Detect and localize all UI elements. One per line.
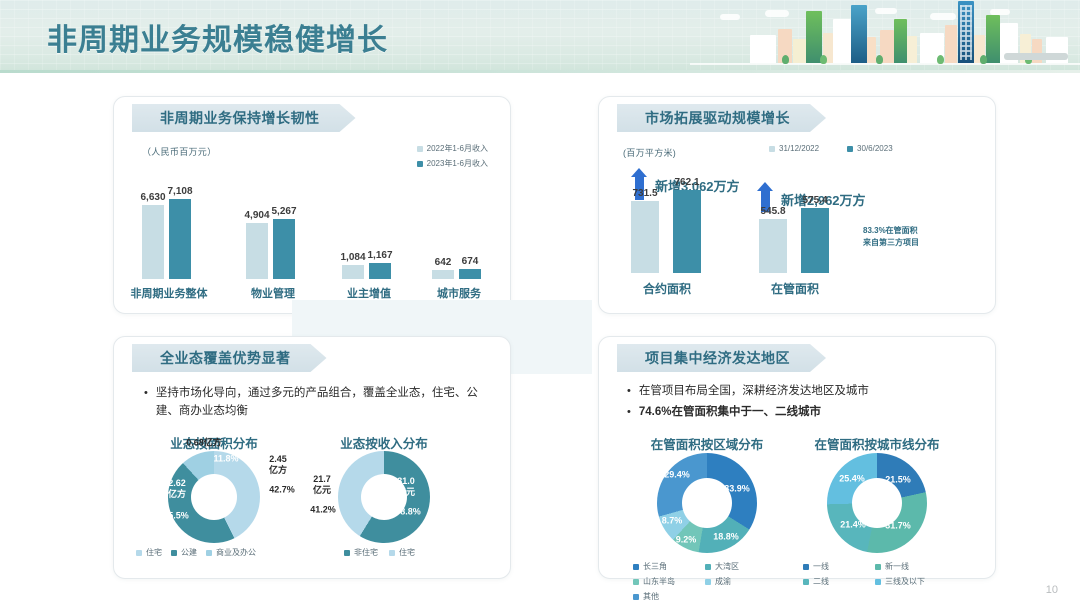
- bar-2023: [169, 199, 191, 279]
- legend-swatch-icon: [875, 564, 881, 570]
- list-item-text: 74.6%在管面积集中于一、二线城市: [639, 404, 821, 422]
- legend-label: 公建: [181, 547, 197, 558]
- bar-chart-revenue: 6,630 7,108 非周期业务整体 4,904 5,267 物业管理 1,0…: [114, 97, 512, 315]
- header-divider: [0, 70, 1080, 73]
- donut-managed-area-by-citytier: [827, 453, 927, 553]
- legend-item: 新一线: [875, 561, 965, 572]
- legend-item: 山东半岛: [633, 576, 705, 587]
- bar-category-label: 合约面积: [643, 280, 691, 297]
- train-icon: [1004, 53, 1068, 60]
- legend-by-city-tier: 一线 新一线 二线 三线及以下: [803, 561, 968, 587]
- panel-full-format-coverage: 全业态覆盖优势显著 • 坚持市场化导向，通过多元的产品组合，覆盖全业态，住宅、公…: [113, 336, 511, 579]
- bullet-list: • 坚持市场化导向，通过多元的产品组合，覆盖全业态，住宅、公建、商办业态均衡: [144, 385, 494, 424]
- donut-percent-label: 31.7%: [885, 521, 911, 532]
- legend-swatch-icon: [136, 550, 142, 556]
- legend-swatch-icon: [389, 550, 395, 556]
- legend-item: 其他: [633, 591, 705, 602]
- legend-swatch-icon: [803, 579, 809, 585]
- bullet-list: • 在管项目布局全国，深耕经济发达地区及城市 • 74.6%在管面积集中于一、二…: [627, 383, 982, 425]
- legend-label: 一线: [813, 561, 829, 572]
- bar-value-label: 762.1: [674, 177, 699, 188]
- donut-value-label: 31.0 亿元: [397, 476, 415, 498]
- donut-percent-label: 42.7%: [269, 485, 295, 496]
- legend-label: 二线: [813, 576, 829, 587]
- legend-item: 一线: [803, 561, 875, 572]
- bar-value-label: 7,108: [167, 186, 192, 197]
- bar-2023-managed: [801, 208, 829, 273]
- bar-value-label: 5,267: [271, 206, 296, 217]
- legend-item: 公建: [171, 547, 197, 558]
- panel-title-market-expansion: 市场拓展驱动规模增长: [617, 104, 826, 132]
- bar-category-label: 业主增值: [347, 285, 391, 301]
- donut-percent-label: 18.8%: [713, 532, 739, 543]
- bar-2022: [246, 223, 268, 279]
- bar-value-label: 642: [435, 257, 452, 268]
- list-item: • 坚持市场化导向，通过多元的产品组合，覆盖全业态，住宅、公建、商办业态均衡: [144, 385, 494, 421]
- bar-value-label: 674: [462, 256, 479, 267]
- legend-label: 三线及以下: [885, 576, 925, 587]
- third-party-note-line2: 来自第三方项目: [863, 237, 919, 249]
- chart-title-by-city-tier: 在管面积按城市线分布: [814, 434, 939, 453]
- donut-value-label: 21.7 亿元: [313, 474, 331, 496]
- bar-value-label: 575.4: [802, 195, 827, 206]
- axis-unit-label: (百万平方米): [623, 146, 676, 159]
- legend-swatch-icon: [344, 550, 350, 556]
- legend-area: 31/12/2022 30/6/2023: [769, 144, 893, 153]
- legend-label: 非住宅: [354, 547, 378, 558]
- legend-item: 三线及以下: [875, 576, 965, 587]
- donut-value-label: 0.68亿方: [186, 438, 222, 449]
- bar-value-label: 1,167: [367, 250, 392, 261]
- bar-2023-contract: [673, 190, 701, 273]
- donut-percent-label: 41.2%: [310, 505, 336, 516]
- third-party-note-line1: 83.3%在管面积: [863, 225, 919, 237]
- legend-swatch-icon: [875, 579, 881, 585]
- legend-item: 住宅: [389, 547, 415, 558]
- bar-category-label: 城市服务: [437, 285, 481, 301]
- list-item: • 在管项目布局全国，深耕经济发达地区及城市: [627, 383, 982, 401]
- legend-swatch-icon: [705, 579, 711, 585]
- legend-label: 31/12/2022: [779, 144, 819, 153]
- legend-label: 山东半岛: [643, 576, 675, 587]
- panel-market-expansion: 市场拓展驱动规模增长 (百万平方米) 31/12/2022 30/6/2023 …: [598, 96, 996, 314]
- donut-percent-label: 45.5%: [163, 511, 189, 522]
- legend-swatch-icon: [633, 579, 639, 585]
- donut-percent-label: 25.4%: [839, 474, 865, 485]
- donut-percent-label: 8.7%: [662, 516, 683, 527]
- panel-title-full-format-coverage: 全业态覆盖优势显著: [132, 344, 327, 372]
- legend-item: 非住宅: [344, 547, 378, 558]
- legend-swatch-icon: [206, 550, 212, 556]
- bar-2023: [273, 219, 295, 279]
- legend-label: 商业及办公: [216, 547, 256, 558]
- panel-revenue-resilience: 非周期业务保持增长韧性 （人民币百万元） 2022年1-6月收入 2023年1-…: [113, 96, 511, 314]
- legend-swatch-icon: [633, 564, 639, 570]
- bar-2023: [459, 269, 481, 279]
- page-title: 非周期业务规模稳健增长: [47, 15, 388, 59]
- legend-item: 二线: [803, 576, 875, 587]
- slide: 非周期业务规模稳健增长 非周期业务保持增长韧性 （人民币百万元） 2022年1-…: [0, 0, 1080, 608]
- bar-2022: [432, 270, 454, 279]
- bar-2023: [369, 263, 391, 279]
- legend-swatch-icon: [171, 550, 177, 556]
- legend-label: 住宅: [399, 547, 415, 558]
- bar-category-label: 在管面积: [771, 280, 819, 297]
- legend-item: 31/12/2022: [769, 144, 819, 153]
- legend-swatch-icon: [803, 564, 809, 570]
- bar-2022-contract: [631, 201, 659, 273]
- bar-value-label: 4,904: [244, 210, 269, 221]
- slide-header: 非周期业务规模稳健增长: [0, 0, 1080, 73]
- legend-label: 住宅: [146, 547, 162, 558]
- chart-title-revenue-by-format: 业态按收入分布: [340, 433, 428, 452]
- donut-percent-label: 58.8%: [395, 507, 421, 518]
- legend-label: 其他: [643, 591, 659, 602]
- bar-2022: [342, 265, 364, 279]
- legend-swatch-icon: [769, 146, 775, 152]
- list-item-text: 在管项目布局全国，深耕经济发达地区及城市: [639, 383, 869, 401]
- legend-item: 住宅: [136, 547, 162, 558]
- legend-label: 成渝: [715, 576, 731, 587]
- legend-label: 大湾区: [715, 561, 739, 572]
- cityscape-icon: [690, 0, 1080, 73]
- donut-percent-label: 11.8%: [213, 454, 238, 465]
- legend-item: 商业及办公: [206, 547, 256, 558]
- bar-value-label: 1,084: [340, 252, 365, 263]
- bar-category-label: 物业管理: [251, 285, 295, 301]
- list-item: • 74.6%在管面积集中于一、二线城市: [627, 404, 982, 422]
- bar-value-label: 731.5: [632, 188, 657, 199]
- donut-percent-label: 29.4%: [664, 470, 690, 481]
- legend-item: 大湾区: [705, 561, 775, 572]
- legend-item: 长三角: [633, 561, 705, 572]
- list-item-text: 坚持市场化导向，通过多元的产品组合，覆盖全业态，住宅、公建、商办业态均衡: [156, 385, 494, 421]
- bar-value-label: 545.8: [760, 206, 785, 217]
- donut-revenue-by-format: [338, 451, 430, 543]
- chart-title-by-region: 在管面积按区域分布: [651, 434, 764, 453]
- legend-area-by-format: 住宅 公建 商业及办公: [136, 547, 256, 558]
- donut-percent-label: 9.2%: [676, 535, 697, 546]
- bullet-dot-icon: •: [627, 383, 631, 401]
- donut-percent-label: 33.9%: [724, 484, 750, 495]
- legend-by-region: 长三角 大湾区 山东半岛 成渝 其他: [633, 561, 778, 602]
- bar-2022: [142, 205, 164, 279]
- legend-item: 30/6/2023: [847, 144, 893, 153]
- donut-value-label: 2.45 亿方: [269, 454, 287, 476]
- panel-developed-regions: 项目集中经济发达地区 • 在管项目布局全国，深耕经济发达地区及城市 • 74.6…: [598, 336, 996, 579]
- legend-revenue-by-format: 非住宅 住宅: [344, 547, 415, 558]
- page-number: 10: [1046, 584, 1058, 596]
- bar-category-label: 非周期业务整体: [131, 285, 208, 301]
- legend-swatch-icon: [633, 594, 639, 600]
- bar-2022-managed: [759, 219, 787, 273]
- bullet-dot-icon: •: [144, 385, 148, 421]
- third-party-note: 83.3%在管面积 来自第三方项目: [863, 225, 919, 248]
- donut-value-label: 2.62 亿方: [168, 478, 186, 500]
- bar-value-label: 6,630: [140, 192, 165, 203]
- panel-title-developed-regions: 项目集中经济发达地区: [617, 344, 826, 372]
- legend-label: 长三角: [643, 561, 667, 572]
- legend-swatch-icon: [705, 564, 711, 570]
- legend-label: 30/6/2023: [857, 144, 893, 153]
- donut-percent-label: 21.5%: [885, 475, 911, 486]
- bullet-dot-icon: •: [627, 404, 631, 422]
- legend-swatch-icon: [847, 146, 853, 152]
- donut-percent-label: 21.4%: [840, 520, 866, 531]
- legend-label: 新一线: [885, 561, 909, 572]
- legend-item: 成渝: [705, 576, 775, 587]
- donut-managed-area-by-region: [657, 453, 757, 553]
